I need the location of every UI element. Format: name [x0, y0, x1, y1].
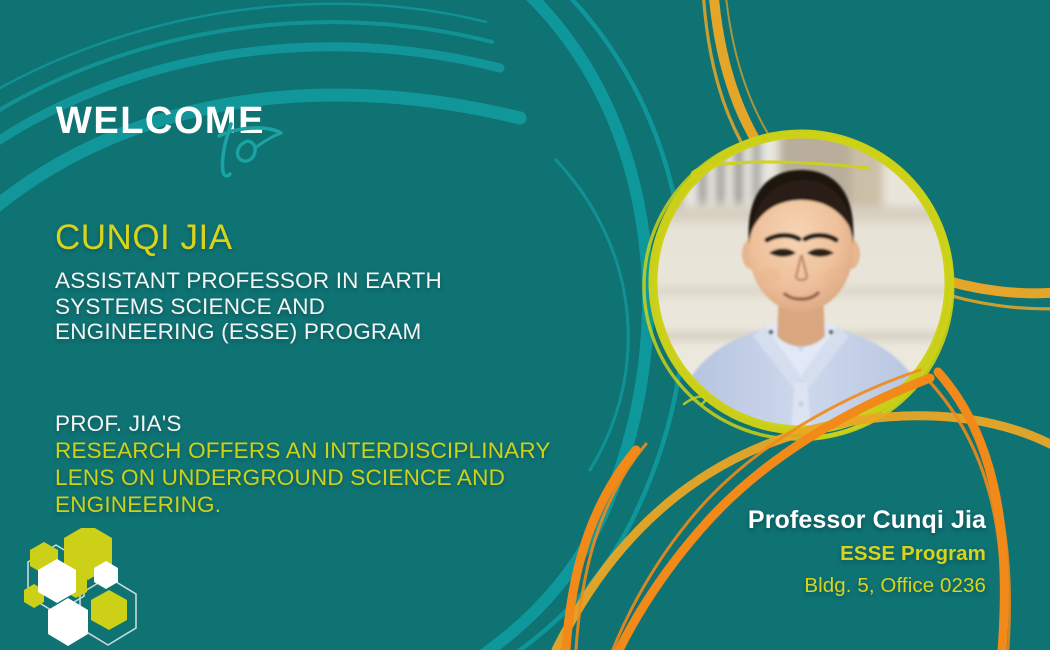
credit-block: Professor Cunqi Jia ESSE Program Bldg. 5…	[748, 503, 986, 602]
person-title: ASSISTANT PROFESSOR IN EARTH SYSTEMS SCI…	[55, 268, 575, 345]
research-statement: PROF. JIA'S RESEARCH OFFERS AN INTERDISC…	[55, 410, 645, 518]
welcome-block: WELCOME to	[56, 100, 376, 180]
person-title-line-2: SYSTEMS SCIENCE AND	[55, 294, 575, 320]
person-title-line-3: ENGINEERING (ESSE) PROGRAM	[55, 319, 575, 345]
person-title-line-1: ASSISTANT PROFESSOR IN EARTH	[55, 268, 575, 294]
credit-name: Professor Cunqi Jia	[748, 503, 986, 537]
page-title: CUNQI JIA	[55, 218, 233, 258]
portrait-photo: Headshot of Professor Cunqi Jia in a lig…	[655, 136, 947, 428]
credit-program: ESSE Program	[748, 537, 986, 570]
research-body-line-3: ENGINEERING.	[55, 491, 645, 518]
research-body-line-2: LENS ON UNDERGROUND SCIENCE AND	[55, 464, 645, 491]
credit-office: Bldg. 5, Office 0236	[748, 570, 986, 602]
research-body: RESEARCH OFFERS AN INTERDISCIPLINARY LEN…	[55, 437, 645, 518]
welcome-poster: Headshot of Professor Cunqi Jia in a lig…	[0, 0, 1050, 650]
portrait-image: Headshot of Professor Cunqi Jia in a lig…	[655, 136, 947, 428]
research-kicker: PROF. JIA'S	[55, 410, 645, 437]
research-body-line-1: RESEARCH OFFERS AN INTERDISCIPLINARY	[55, 437, 645, 464]
hexagon-logo-icon: Hexagon cluster logo mark	[8, 528, 158, 646]
welcome-heading: WELCOME	[56, 100, 265, 142]
